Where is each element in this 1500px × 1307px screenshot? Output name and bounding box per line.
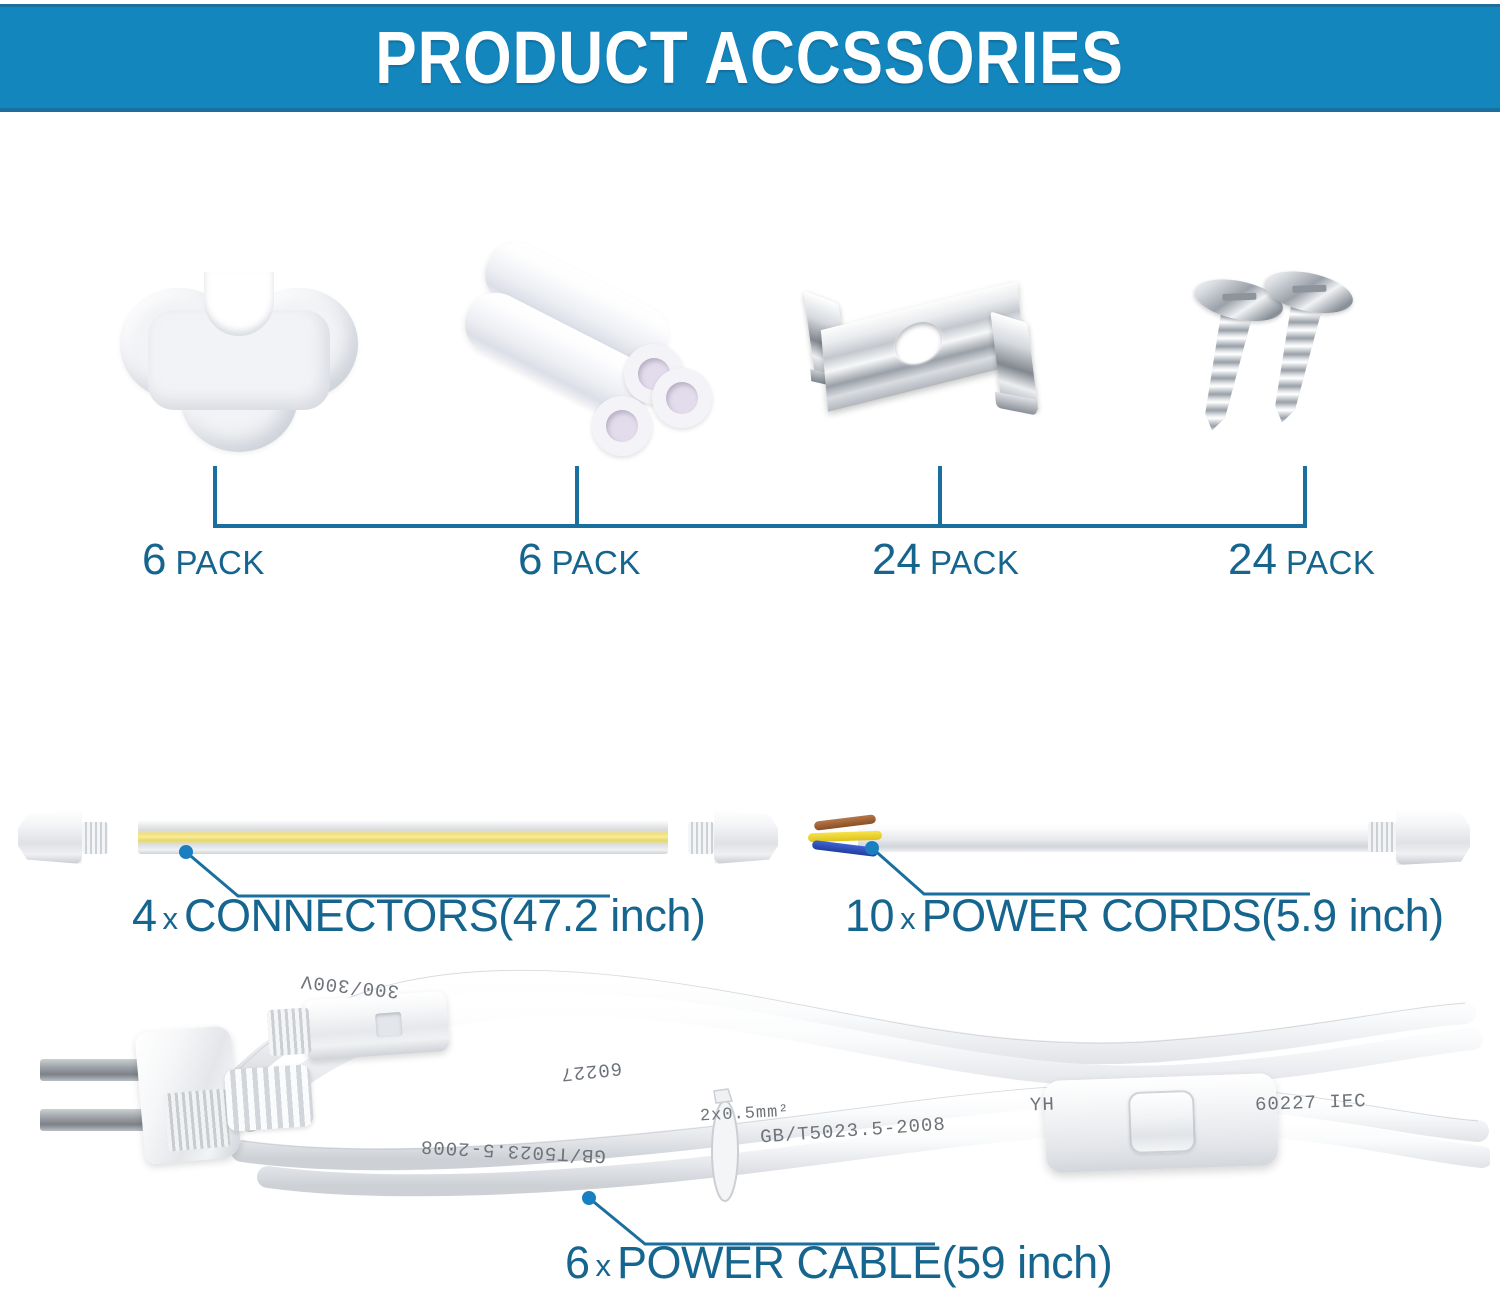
plug-grip-ridges bbox=[164, 1088, 231, 1151]
bracket-base-line bbox=[213, 524, 1307, 528]
plug-prong-2 bbox=[40, 1109, 152, 1131]
connector-plug-right bbox=[690, 810, 778, 866]
plug-strain-relief bbox=[224, 1064, 314, 1132]
quantity-bracket bbox=[213, 466, 1307, 528]
connector-strain-relief bbox=[267, 1007, 312, 1056]
pack-qty: 24 bbox=[1228, 535, 1277, 584]
plug-body bbox=[18, 810, 82, 864]
cable-qty: 6 bbox=[565, 1237, 590, 1288]
connector-slot bbox=[375, 1012, 403, 1038]
power-cable-with-switch-icon bbox=[10, 955, 1490, 1205]
pack-qty: 24 bbox=[872, 535, 921, 584]
caption-power-cords: 10xPOWER CORDS(5.9 inch) bbox=[845, 893, 1444, 938]
bracket-tick-3 bbox=[938, 466, 942, 528]
screw-shaft bbox=[1194, 304, 1255, 435]
inline-rocker-switch[interactable] bbox=[1043, 1073, 1278, 1173]
screw-left bbox=[1191, 277, 1263, 432]
pack-unit: PACK bbox=[930, 544, 1019, 581]
pack-unit: PACK bbox=[1286, 544, 1375, 581]
pack-unit: PACK bbox=[175, 544, 264, 581]
tube-opening-b bbox=[652, 368, 712, 428]
header-banner: PRODUCT ACCSSORIES bbox=[0, 4, 1500, 112]
cords-label: POWER CORDS(5.9 inch) bbox=[922, 890, 1444, 941]
ac-wall-plug bbox=[40, 1037, 270, 1157]
switch-rocker-button[interactable] bbox=[1128, 1090, 1196, 1154]
cable-label: POWER CABLE(59 inch) bbox=[617, 1237, 1112, 1288]
tube-opening-c bbox=[592, 396, 652, 456]
leader-dot-connectors bbox=[179, 845, 193, 859]
pack-label-tubes: 6PACK bbox=[518, 538, 641, 582]
caption-power-cable: 6xPOWER CABLE(59 inch) bbox=[565, 1240, 1112, 1285]
screw-right bbox=[1261, 269, 1333, 424]
connector-plug-left bbox=[18, 810, 106, 866]
pack-label-screws: 24PACK bbox=[1228, 538, 1375, 582]
connectors-qty: 4 bbox=[132, 890, 157, 941]
pack-label-trefoil: 6PACK bbox=[142, 538, 265, 582]
metal-mounting-clip-icon bbox=[792, 254, 1087, 468]
plug-body bbox=[714, 810, 778, 864]
bracket-tick-4 bbox=[1303, 466, 1307, 528]
pack-label-clip: 24PACK bbox=[872, 538, 1019, 582]
cable-multiplier: x bbox=[590, 1248, 618, 1283]
pack-qty: 6 bbox=[518, 535, 542, 584]
page-title: PRODUCT ACCSSORIES bbox=[376, 21, 1124, 95]
connectors-multiplier: x bbox=[157, 901, 185, 936]
pack-qty: 6 bbox=[142, 535, 166, 584]
caption-connectors: 4xCONNECTORS(47.2 inch) bbox=[132, 893, 705, 938]
leader-dot-cable bbox=[582, 1191, 596, 1205]
part-screws bbox=[1150, 250, 1450, 460]
cords-multiplier: x bbox=[894, 901, 922, 936]
bracket-tick-1 bbox=[213, 466, 217, 528]
socket-body bbox=[1396, 809, 1470, 865]
connectors-label: CONNECTORS(47.2 inch) bbox=[184, 890, 705, 941]
leader-dot-cords bbox=[865, 841, 879, 855]
bracket-tick-2 bbox=[575, 466, 579, 528]
clover-end-cap-icon bbox=[118, 278, 368, 458]
plug-prong-1 bbox=[40, 1059, 152, 1081]
part-trefoil-end-cap bbox=[100, 250, 400, 460]
cords-qty: 10 bbox=[845, 890, 894, 941]
cable-tie bbox=[712, 1089, 738, 1201]
flat-head-screw-icon bbox=[1176, 266, 1426, 458]
pack-unit: PACK bbox=[551, 544, 640, 581]
part-mounting-clip bbox=[790, 250, 1090, 460]
part-tube-connector bbox=[448, 250, 748, 460]
twin-tube-connector-icon bbox=[456, 268, 736, 458]
iec-female-connector bbox=[266, 991, 450, 1065]
plug-strain-relief bbox=[82, 822, 108, 854]
